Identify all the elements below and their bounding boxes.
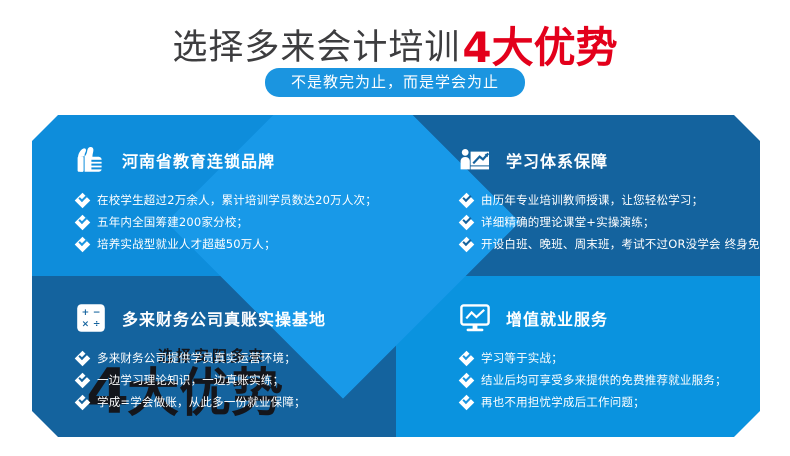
- list-item-text: 五年内全国筹建200家分校；: [97, 215, 248, 230]
- check-diamond-icon: [460, 216, 473, 229]
- list-item: 一边学习理论知识，一边真账实练；: [76, 373, 306, 390]
- calculator-icon: + − × ÷: [74, 301, 108, 335]
- list-item-text: 学习等于实战；: [481, 351, 563, 366]
- check-diamond-icon: [76, 238, 89, 251]
- page-title-accent: 4大优势: [462, 23, 617, 72]
- list-item-text: 开设白班、晚班、周末班，考试不过OR没学会 终身免费学习；: [481, 237, 760, 252]
- list-item: 学成=学会做账，从此多一份就业保障；: [76, 395, 306, 412]
- list-item-text: 由历年专业培训教师授课，让您轻松学习；: [481, 193, 703, 208]
- card-bottom-right[interactable]: 增值就业服务 学习等于实战； 结业后均可享受多来提供的免费推荐就业服务； 再也不…: [396, 276, 760, 437]
- list-item: 由历年专业培训教师授课，让您轻松学习；: [460, 193, 760, 210]
- list-item-text: 多来财务公司提供学员真实运营环境；: [97, 351, 296, 366]
- check-diamond-icon: [76, 194, 89, 207]
- card-header: 增值就业服务: [458, 301, 608, 335]
- card-title: 多来财务公司真账实操基地: [122, 306, 326, 330]
- list-item-text: 在校学生超过2万余人，累计培训学员数达20万人次；: [97, 193, 377, 208]
- list-item: 五年内全国筹建200家分校；: [76, 215, 377, 232]
- card-title: 学习体系保障: [506, 148, 608, 172]
- page-title-main: 选择多来会计培训: [172, 28, 460, 68]
- list-item: 学习等于实战；: [460, 351, 727, 368]
- thumbs-up-icon: [74, 143, 108, 177]
- list-item: 在校学生超过2万余人，累计培训学员数达20万人次；: [76, 193, 377, 210]
- card-bullet-list: 学习等于实战； 结业后均可享受多来提供的免费推荐就业服务； 再也不用担忧学成后工…: [460, 351, 727, 417]
- svg-text:÷: ÷: [93, 320, 101, 330]
- poster-root: 选择多来会计培训4大优势 不是教完为止，而是学会为止 选择安阳多来 4大优势: [0, 0, 790, 456]
- teacher-board-icon: [458, 143, 492, 177]
- check-diamond-icon: [460, 374, 473, 387]
- card-header: 学习体系保障: [458, 143, 608, 177]
- card-bullet-list: 多来财务公司提供学员真实运营环境； 一边学习理论知识，一边真账实练； 学成=学会…: [76, 351, 306, 417]
- list-item-text: 学成=学会做账，从此多一份就业保障；: [97, 395, 306, 410]
- list-item: 培养实战型就业人才超越50万人；: [76, 237, 377, 254]
- card-bullet-list: 由历年专业培训教师授课，让您轻松学习； 详细精确的理论课堂+实操演练； 开设白班…: [460, 193, 760, 259]
- card-bottom-left[interactable]: + − × ÷ 多来财务公司真账实操基地 多来财务公司提供学员真实运营环境；: [32, 276, 396, 437]
- card-top-left[interactable]: 河南省教育连锁品牌 在校学生超过2万余人，累计培训学员数达20万人次； 五年内全…: [32, 115, 396, 276]
- check-diamond-icon: [76, 374, 89, 387]
- subtitle-wrapper: 不是教完为止，而是学会为止: [0, 68, 790, 97]
- check-diamond-icon: [460, 194, 473, 207]
- advantages-board: 选择安阳多来 4大优势 河南省教育连锁品牌: [32, 115, 760, 437]
- card-header: + − × ÷ 多来财务公司真账实操基地: [74, 301, 326, 335]
- list-item: 再也不用担忧学成后工作问题；: [460, 395, 727, 412]
- card-title: 增值就业服务: [506, 306, 608, 330]
- check-diamond-icon: [460, 352, 473, 365]
- thumbs-up-icon-svg: [74, 143, 108, 177]
- check-diamond-icon: [76, 396, 89, 409]
- page-title: 选择多来会计培训4大优势: [0, 14, 790, 75]
- check-diamond-icon: [76, 216, 89, 229]
- monitor-chart-icon-svg: [458, 301, 492, 335]
- svg-text:−: −: [93, 308, 101, 318]
- card-title: 河南省教育连锁品牌: [122, 148, 275, 172]
- list-item: 开设白班、晚班、周末班，考试不过OR没学会 终身免费学习；: [460, 237, 760, 254]
- check-diamond-icon: [76, 352, 89, 365]
- calculator-icon-svg: + − × ÷: [74, 301, 108, 335]
- list-item-text: 详细精确的理论课堂+实操演练；: [481, 215, 655, 230]
- check-diamond-icon: [460, 396, 473, 409]
- check-diamond-icon: [460, 238, 473, 251]
- list-item-text: 培养实战型就业人才超越50万人；: [97, 237, 276, 252]
- svg-text:+: +: [82, 308, 90, 318]
- svg-text:×: ×: [82, 320, 90, 330]
- list-item-text: 一边学习理论知识，一边真账实练；: [97, 373, 284, 388]
- card-bullet-list: 在校学生超过2万余人，累计培训学员数达20万人次； 五年内全国筹建200家分校；…: [76, 193, 377, 259]
- card-header: 河南省教育连锁品牌: [74, 143, 275, 177]
- list-item-text: 再也不用担忧学成后工作问题；: [481, 395, 645, 410]
- list-item-text: 结业后均可享受多来提供的免费推荐就业服务；: [481, 373, 727, 388]
- list-item: 详细精确的理论课堂+实操演练；: [460, 215, 760, 232]
- list-item: 结业后均可享受多来提供的免费推荐就业服务；: [460, 373, 727, 390]
- poster-header: 选择多来会计培训4大优势 不是教完为止，而是学会为止: [0, 0, 790, 110]
- card-top-right[interactable]: 学习体系保障 由历年专业培训教师授课，让您轻松学习； 详细精确的理论课堂+实操演…: [396, 115, 760, 276]
- teacher-board-icon-svg: [458, 143, 492, 177]
- list-item: 多来财务公司提供学员真实运营环境；: [76, 351, 306, 368]
- subtitle-pill: 不是教完为止，而是学会为止: [265, 68, 525, 97]
- monitor-chart-icon: [458, 301, 492, 335]
